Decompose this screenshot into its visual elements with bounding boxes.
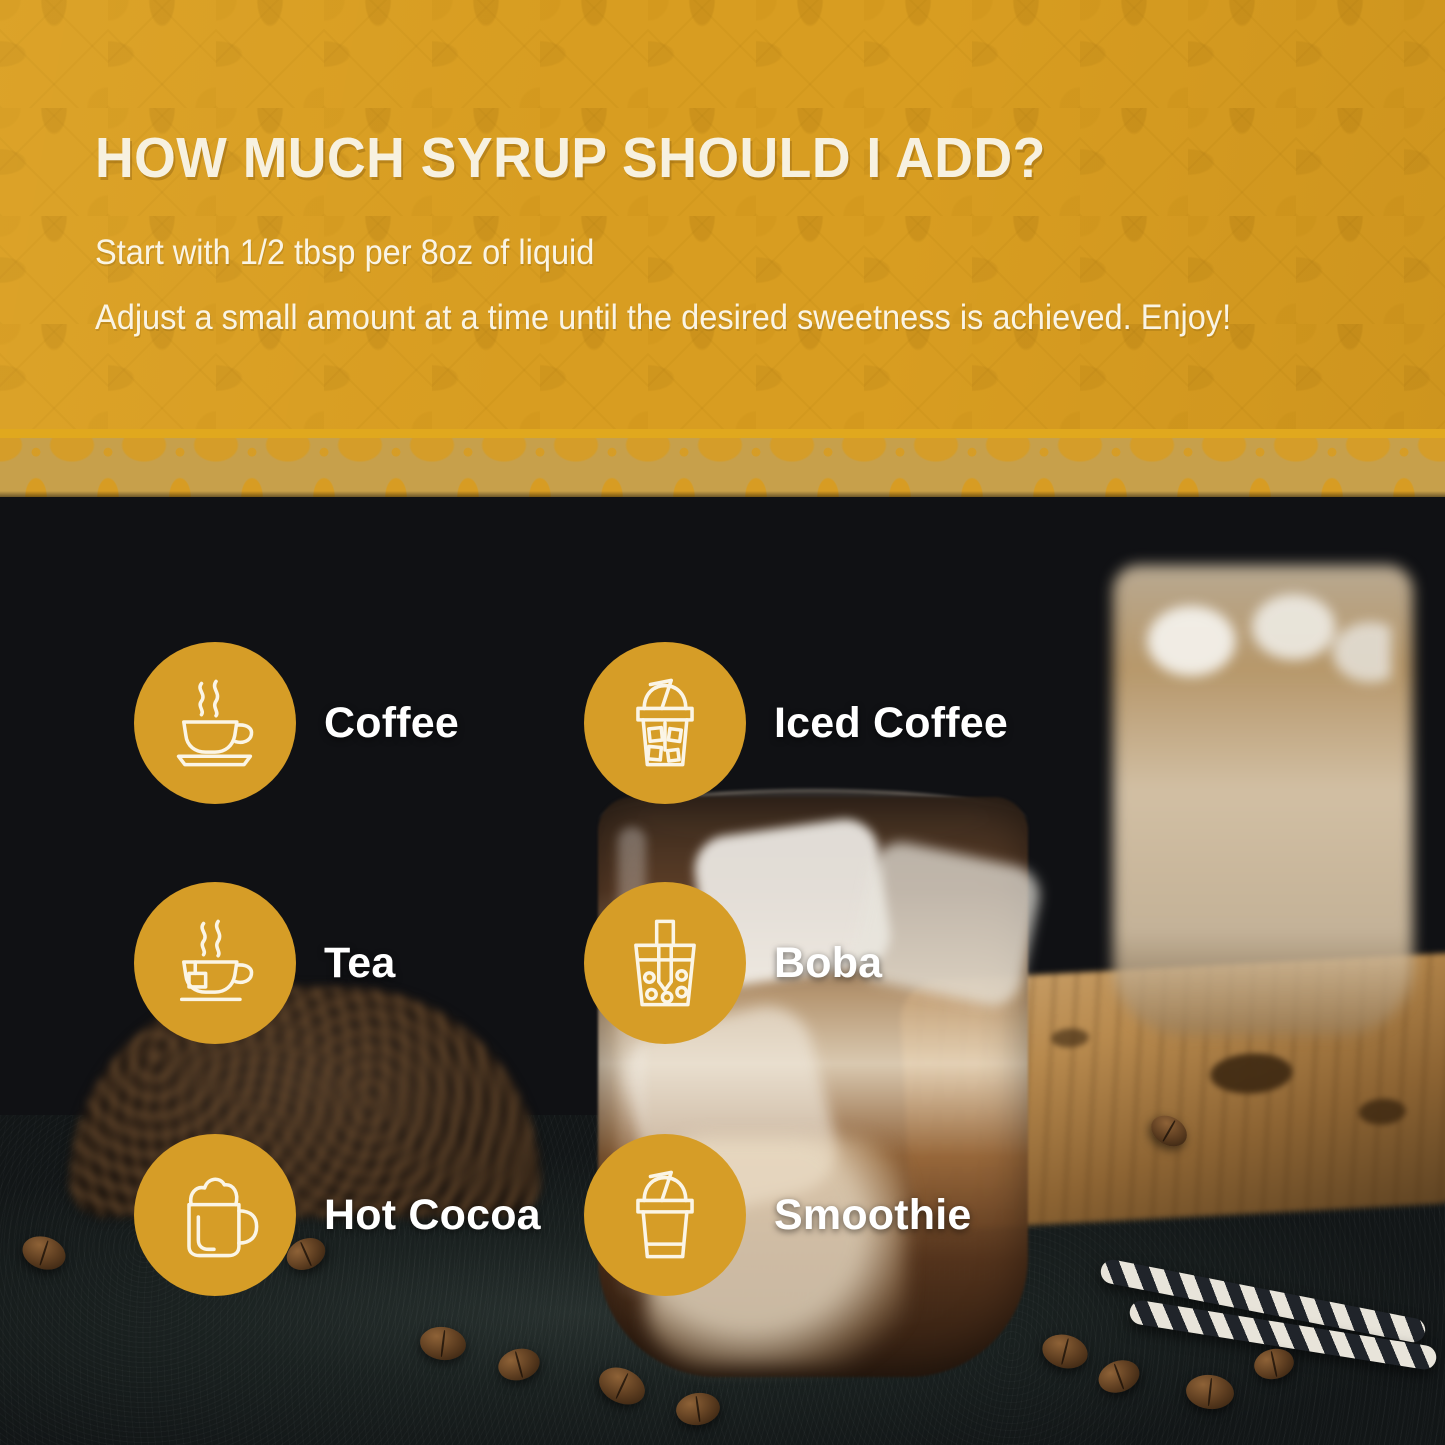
- item-label: Iced Coffee: [774, 699, 1008, 748]
- header-banner: HOW MUCH SYRUP SHOULD I ADD? Start with …: [0, 0, 1445, 429]
- item-boba[interactable]: Boba: [584, 882, 882, 1044]
- item-coffee[interactable]: Coffee: [134, 642, 459, 804]
- beverage-items-grid: Coffee Iced Coffee: [0, 497, 1445, 1445]
- item-label: Hot Cocoa: [324, 1191, 541, 1240]
- decorative-border-band: [0, 429, 1445, 497]
- item-label: Tea: [324, 939, 396, 988]
- page-title: HOW MUCH SYRUP SHOULD I ADD?: [95, 125, 1308, 191]
- subtitle-line-2: Adjust a small amount at a time until th…: [95, 298, 1295, 338]
- item-smoothie[interactable]: Smoothie: [584, 1134, 972, 1296]
- boba-cup-icon: [584, 882, 746, 1044]
- item-label: Smoothie: [774, 1191, 972, 1240]
- band-top-stripe: [0, 429, 1445, 438]
- smoothie-cup-icon: [584, 1134, 746, 1296]
- band-floral-pattern: [0, 438, 1445, 497]
- subtitle-line-1: Start with 1/2 tbsp per 8oz of liquid: [95, 233, 1295, 273]
- item-hot-cocoa[interactable]: Hot Cocoa: [134, 1134, 541, 1296]
- hot-cocoa-mug-icon: [134, 1134, 296, 1296]
- syrup-usage-poster: HOW MUCH SYRUP SHOULD I ADD? Start with …: [0, 0, 1445, 1445]
- coffee-cup-icon: [134, 642, 296, 804]
- tea-cup-icon: [134, 882, 296, 1044]
- item-label: Boba: [774, 939, 882, 988]
- item-tea[interactable]: Tea: [134, 882, 396, 1044]
- item-iced-coffee[interactable]: Iced Coffee: [584, 642, 1008, 804]
- item-label: Coffee: [324, 699, 459, 748]
- iced-coffee-icon: [584, 642, 746, 804]
